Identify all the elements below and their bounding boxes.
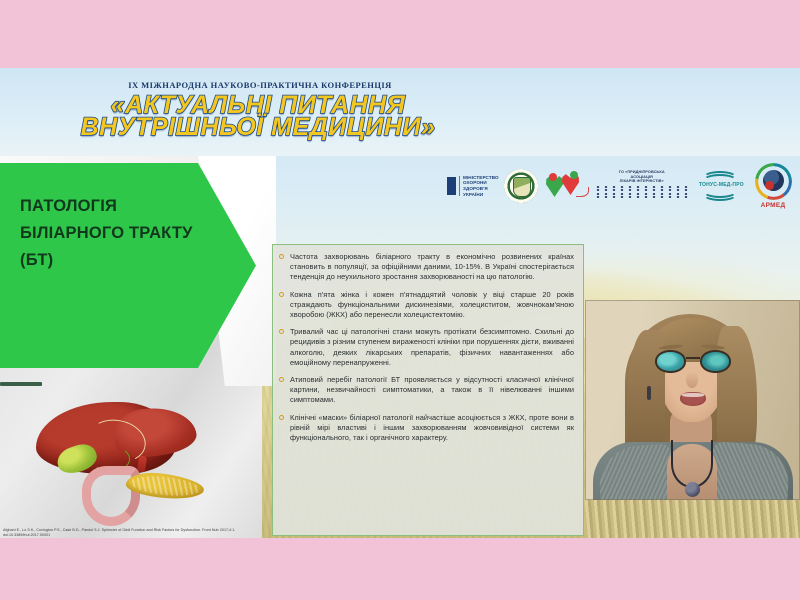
bullet-text: Атиповий перебіг патології БТ проявляєть… (290, 375, 574, 406)
speaker-glasses (655, 350, 731, 374)
slide-content-box: Частота захворювань біліарного тракту в … (272, 244, 584, 536)
glasses-lens-left (655, 350, 686, 373)
heart-swoosh-icon (576, 187, 589, 197)
conference-title-line2: ВНУТРІШНЬОЇ МЕДИЦИНИ» (58, 115, 458, 140)
bullet-marker-icon (279, 413, 290, 444)
ministry-of-health-logo: МІНІСТЕРСТВО ОХОРОНИ ЗДОРОВ'Я УКРАЇНИ (447, 175, 499, 197)
trident-icon (447, 177, 456, 195)
background-field-strip (585, 500, 800, 538)
bullet-item: Клінічні «маски» біліарної патології най… (279, 413, 574, 444)
bullet-text: Клінічні «маски» біліарної патології най… (290, 413, 574, 444)
university-seal-logo (504, 169, 538, 203)
ministry-line-4: УКРАЇНИ (463, 192, 499, 198)
armed-logo: АРМЕД (751, 163, 795, 209)
hearts-logo (544, 171, 588, 201)
section-title-text: ПАТОЛОГІЯ БІЛІАРНОГО ТРАКТУ (БТ) (20, 193, 210, 274)
sponsor-logos-row: МІНІСТЕРСТВО ОХОРОНИ ЗДОРОВ'Я УКРАЇНИ ГО… (447, 160, 795, 212)
speaker-nose (686, 372, 698, 388)
speaker-necklace (671, 440, 713, 488)
bullet-item: Тривалий час ці патологічні стани можуть… (279, 327, 574, 368)
presentation-slide: IX МІЖНАРОДНА НАУКОВО-ПРАКТИЧНА КОНФЕРЕН… (0, 68, 800, 538)
bullet-item: Частота захворювань біліарного тракту в … (279, 252, 574, 283)
bullet-marker-icon (279, 252, 290, 283)
association-logo: ГО «ПРИДНІПРОВСЬКА АСОЦІАЦІЯ ЛІКАРІВ ІНТ… (594, 170, 690, 202)
armed-logo-text: АРМЕД (751, 202, 795, 209)
red-dot-icon (549, 173, 557, 181)
citation-line: Afghani E., Lo S.K., Covington P.S., Cas… (3, 528, 273, 538)
duodenum-shape (82, 466, 140, 526)
tonmedpro-logo: ТОНУС-МЕД-ПРО (695, 171, 745, 201)
speaker-video-panel[interactable] (585, 300, 800, 500)
biliary-anatomy-illustration (18, 398, 208, 528)
association-logo-text: ГО «ПРИДНІПРОВСЬКА АСОЦІАЦІЯ ЛІКАРІВ ІНТ… (594, 170, 690, 184)
green-dot-icon (570, 171, 578, 179)
bullet-item: Кожна п'ята жінка і кожен п'ятнадцятий ч… (279, 290, 574, 321)
speaker-teeth (682, 393, 704, 397)
conference-subtitle: IX МІЖНАРОДНА НАУКОВО-ПРАКТИЧНА КОНФЕРЕН… (100, 80, 420, 90)
glasses-bridge (686, 357, 700, 359)
waves-icon (594, 186, 690, 202)
divider (459, 176, 460, 196)
citation-references: Afghani E., Lo S.K., Covington P.S., Cas… (3, 528, 273, 538)
ministry-logo-text: МІНІСТЕРСТВО ОХОРОНИ ЗДОРОВ'Я УКРАЇНИ (463, 175, 499, 197)
armed-dot-icon (765, 181, 774, 190)
conference-title: «АКТУАЛЬНІ ПИТАННЯ ВНУТРІШНЬОЇ МЕДИЦИНИ» (58, 93, 458, 140)
bullet-item: Атиповий перебіг патології БТ проявляєть… (279, 375, 574, 406)
bullet-marker-icon (279, 327, 290, 368)
glasses-lens-right (700, 350, 731, 373)
bullet-marker-icon (279, 290, 290, 321)
bullet-text: Частота захворювань біліарного тракту в … (290, 252, 574, 283)
speaker-earring (647, 386, 651, 400)
conference-header-banner: IX МІЖНАРОДНА НАУКОВО-ПРАКТИЧНА КОНФЕРЕН… (0, 68, 800, 156)
bullet-text: Тривалий час ці патологічні стани можуть… (290, 327, 574, 368)
tonmedpro-logo-text: ТОНУС-МЕД-ПРО (698, 182, 744, 188)
bullet-text: Кожна п'ята жінка і кожен п'ятнадцятий ч… (290, 290, 574, 321)
bullet-marker-icon (279, 375, 290, 406)
speaker-pendant (685, 482, 700, 497)
section-title-underline (0, 382, 42, 386)
association-line-3: ЛІКАРІВ ІНТЕРНІСТІВ» (594, 179, 690, 184)
